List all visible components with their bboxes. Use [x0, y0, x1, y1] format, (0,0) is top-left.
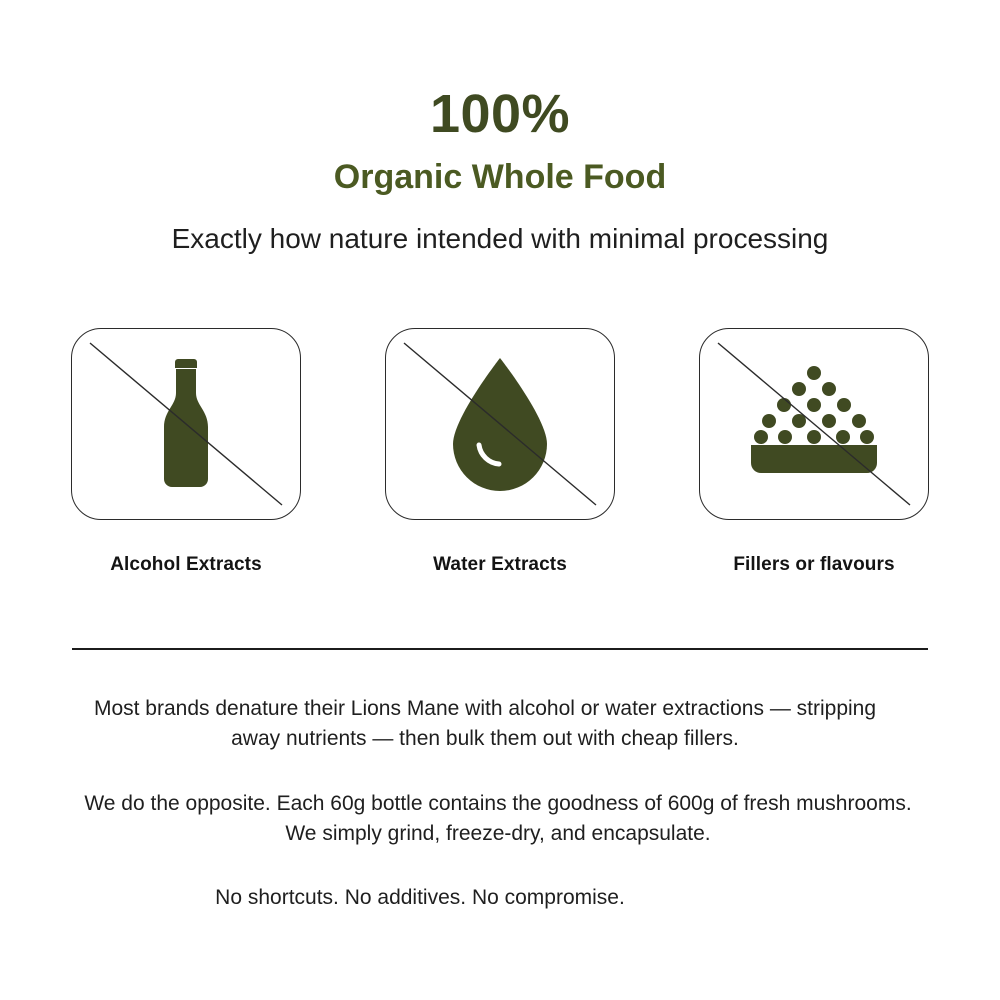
diagonal-slash-icon [386, 329, 614, 519]
exclusion-item-water: Water Extracts [385, 328, 615, 576]
page-tagline: Exactly how nature intended with minimal… [0, 222, 1000, 256]
page-title: 100% [0, 86, 1000, 143]
body-paragraph-1: Most brands denature their Lions Mane wi… [70, 694, 900, 755]
exclusion-label-alcohol: Alcohol Extracts [110, 554, 262, 576]
page-subtitle: Organic Whole Food [0, 159, 1000, 196]
header-block: 100% Organic Whole Food Exactly how natu… [0, 0, 1000, 256]
body-copy: Most brands denature their Lions Mane wi… [70, 650, 930, 914]
exclusion-label-water: Water Extracts [433, 554, 567, 576]
exclusions-row: Alcohol Extracts Water Extracts [0, 328, 1000, 576]
fillers-icon-box [699, 328, 929, 520]
diagonal-slash-icon [700, 329, 928, 519]
marketing-panel: 100% Organic Whole Food Exactly how natu… [0, 0, 1000, 1000]
body-paragraph-2: We do the opposite. Each 60g bottle cont… [70, 789, 926, 850]
body-paragraph-3: No shortcuts. No additives. No compromis… [70, 883, 770, 913]
droplet-icon-box [385, 328, 615, 520]
exclusion-item-fillers: Fillers or flavours [699, 328, 929, 576]
bottle-icon-box [71, 328, 301, 520]
exclusion-label-fillers: Fillers or flavours [733, 554, 894, 576]
exclusion-item-alcohol: Alcohol Extracts [71, 328, 301, 576]
diagonal-slash-icon [72, 329, 300, 519]
